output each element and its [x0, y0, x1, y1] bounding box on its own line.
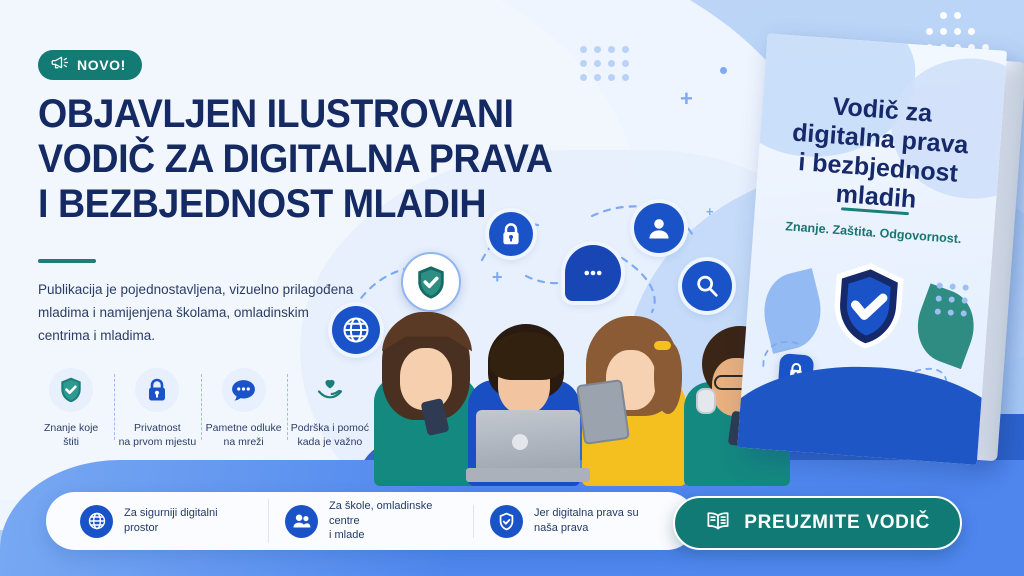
lock-icon [135, 368, 179, 412]
megaphone-icon [51, 55, 69, 75]
dot [935, 308, 941, 314]
bottom-item-label: Za škole, omladinske centrei mlade [329, 499, 457, 544]
dot [608, 60, 615, 67]
book-title: Vodič za digitalna prava i bezbjednost m… [755, 87, 1003, 220]
bottom-info-bar: Za sigurniji digitalni prostor Za škole,… [46, 492, 696, 550]
person-3-hair-tie [654, 341, 671, 350]
dot [982, 28, 989, 35]
dot [622, 46, 629, 53]
book-mockup: Vodič za digitalna prava i bezbjednost m… [737, 33, 1017, 470]
dot-decor [720, 67, 727, 74]
laptop [466, 410, 590, 488]
dot [954, 28, 961, 35]
shield-check-icon [49, 368, 93, 412]
dot [926, 28, 933, 35]
feature-label: Znanje koještiti [31, 421, 111, 449]
dot [580, 60, 587, 67]
dot [949, 296, 955, 302]
lede-paragraph: Publikacija je pojednostavljena, vizueln… [38, 278, 358, 348]
dot [580, 46, 587, 53]
bottom-item-rights: Jer digitalna prava sunaša prava [473, 505, 678, 538]
shield-check-icon [490, 505, 523, 538]
feature-list: Znanje koještiti Privatnostna prvom mjes… [28, 368, 373, 449]
chat-bubble-icon [222, 368, 266, 412]
person-1 [372, 304, 480, 486]
user-icon [634, 203, 684, 253]
dot [622, 60, 629, 67]
title-divider [38, 259, 96, 263]
feature-label: Pametne odlukena mreži [204, 421, 284, 449]
dot [954, 12, 961, 19]
dot [961, 297, 967, 303]
heart-hand-icon [308, 368, 352, 412]
person-2-hair-front [490, 332, 564, 380]
novo-badge: NOVO! [38, 50, 142, 80]
dot [936, 295, 942, 301]
users-icon [285, 505, 318, 538]
four-teens-illustration [372, 296, 792, 486]
person-4-headphones [696, 388, 716, 414]
person-3 [580, 304, 688, 486]
feature-item-knowledge: Znanje koještiti [28, 368, 114, 449]
dot [940, 12, 947, 19]
dot [982, 12, 989, 19]
dot [940, 28, 947, 35]
dot [936, 282, 942, 288]
dot [968, 28, 975, 35]
download-guide-label: PREUZMITE VODIČ [744, 512, 930, 534]
person-3-ponytail [654, 342, 682, 414]
dot [926, 12, 933, 19]
chat-bubble-icon [565, 245, 621, 301]
plus-decor-1: + [680, 88, 693, 110]
poster-canvas: + + + NOVO! OBJAVLJEN ILUSTROVANI VODIČ … [0, 0, 1024, 576]
dot-grid-decor-mid [580, 46, 636, 88]
bottom-item-label: Jer digitalna prava sunaša prava [534, 506, 639, 536]
dot [962, 284, 968, 290]
bottom-item-label: Za sigurniji digitalni prostor [124, 506, 252, 536]
novo-badge-label: NOVO! [77, 57, 126, 73]
dot [949, 283, 955, 289]
feature-label: Podrška i pomoćkada je važno [290, 421, 370, 449]
headline-line-1: OBJAVLJEN ILUSTROVANI [38, 92, 527, 137]
dot [580, 74, 587, 81]
headline-line-2: VODIČ ZA DIGITALNA PRAVA [38, 137, 527, 182]
dot [961, 310, 967, 316]
feature-item-support: Podrška i pomoćkada je važno [287, 368, 373, 449]
download-guide-button[interactable]: PREUZMITE VODIČ [673, 496, 962, 550]
dot [594, 74, 601, 81]
bottom-item-digital-space: Za sigurniji digitalni prostor [64, 505, 268, 538]
feature-label: Privatnostna prvom mjestu [117, 421, 197, 449]
feature-item-smart-choices: Pametne odlukena mreži [201, 368, 287, 449]
dot [594, 60, 601, 67]
lock-icon [489, 212, 533, 256]
dot [608, 74, 615, 81]
feature-item-privacy: Privatnostna prvom mjestu [114, 368, 200, 449]
dot [594, 46, 601, 53]
book-dot-grid [934, 282, 976, 324]
open-book-icon [705, 510, 731, 537]
globe-icon [80, 505, 113, 538]
dot [948, 309, 954, 315]
dot [968, 12, 975, 19]
book-tagline: Znanje. Zaštita. Odgovornost. [753, 217, 993, 249]
bottom-item-schools: Za škole, omladinske centrei mlade [268, 499, 473, 544]
dot [608, 46, 615, 53]
book-cover: Vodič za digitalna prava i bezbjednost m… [737, 33, 1007, 464]
dot [622, 74, 629, 81]
